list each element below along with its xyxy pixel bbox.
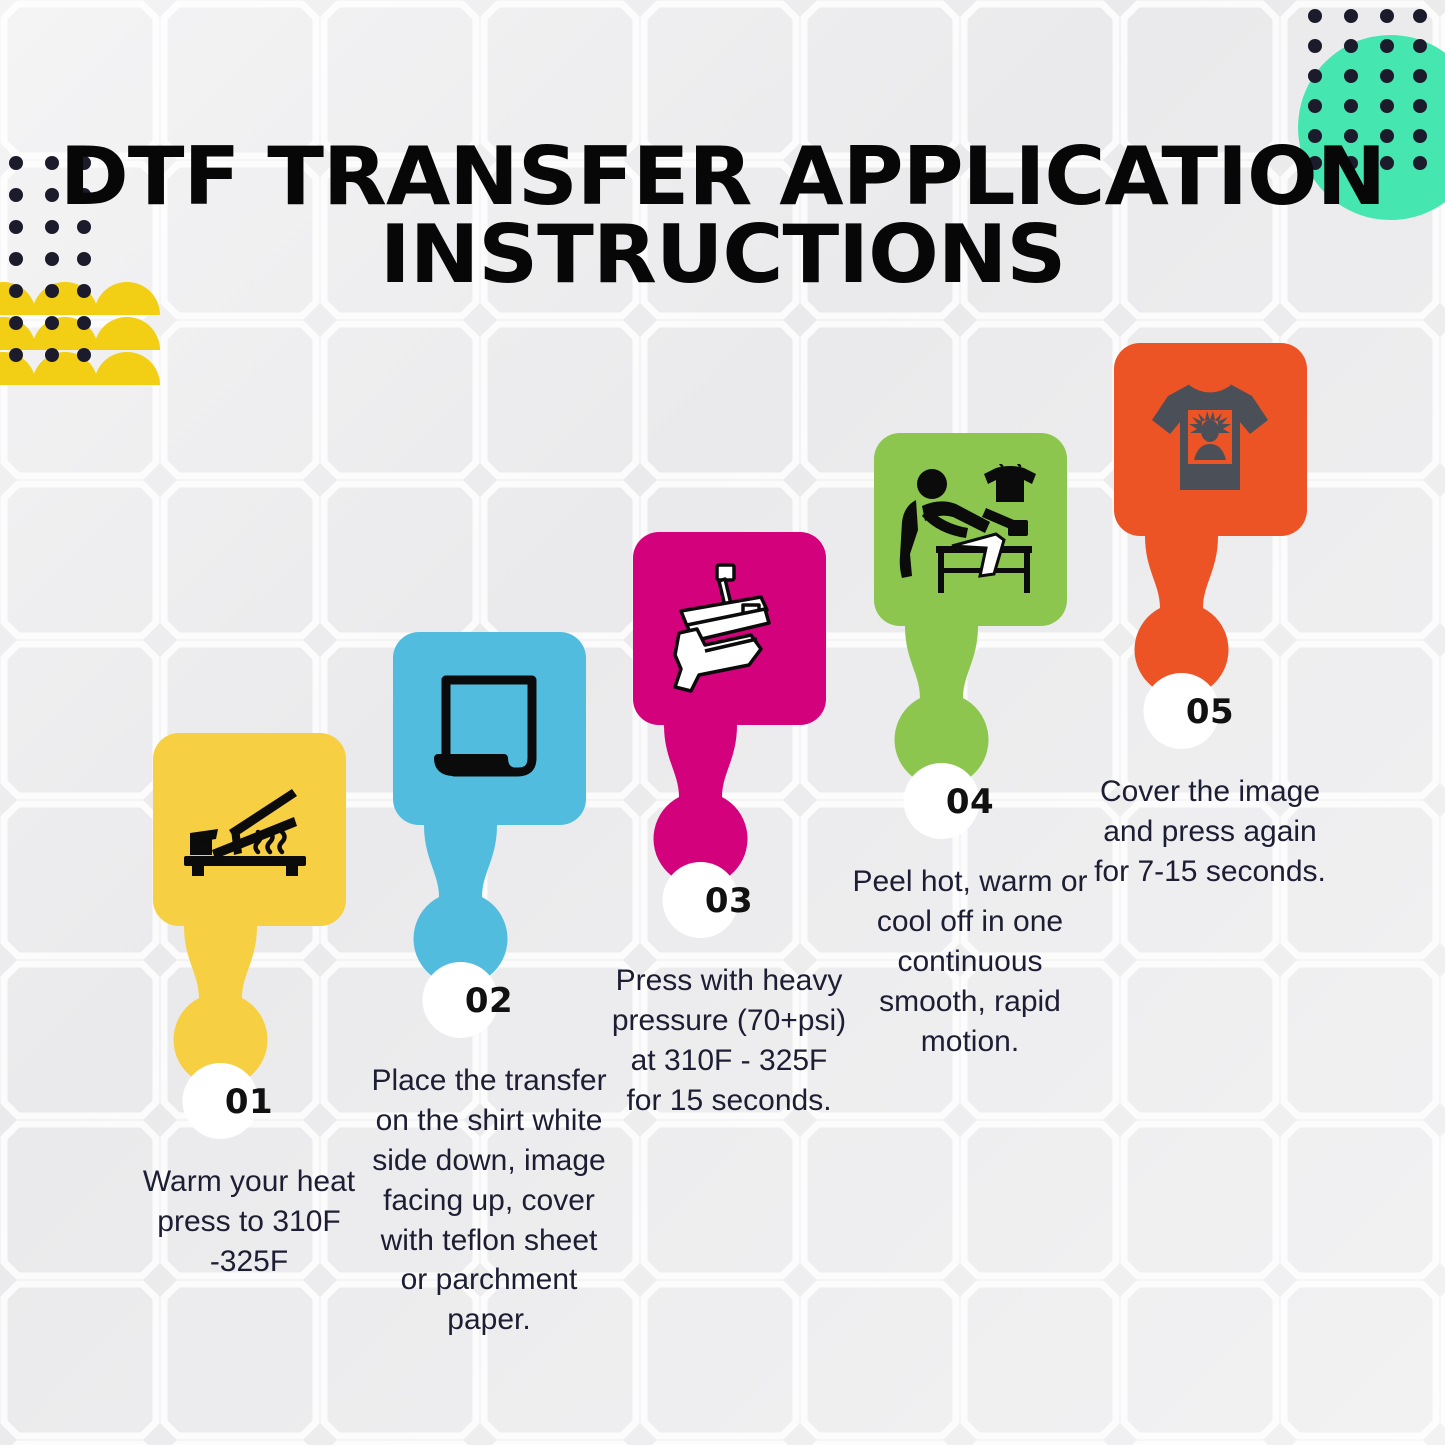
step-number-badge-03: 03 — [683, 855, 775, 947]
step-item-01[interactable]: 01 Warm your heat press to 310F -325F — [124, 733, 374, 1282]
step-number-badge-02: 02 — [443, 955, 535, 1047]
heat-press-open-icon — [174, 770, 324, 890]
step-badge-holder-05: 05 — [1085, 536, 1335, 758]
step-item-04[interactable]: 04 Peel hot, warm or cool off in one con… — [845, 433, 1095, 1061]
step-icon-card-05 — [1114, 343, 1307, 536]
heat-press-machine-icon — [657, 559, 802, 699]
page-title-line-2: INSTRUCTIONS — [0, 216, 1445, 294]
step-number-03: 03 — [705, 881, 753, 921]
step-description-04: Peel hot, warm or cool off in one contin… — [850, 862, 1090, 1061]
step-badge-holder-02: 02 — [364, 825, 614, 1047]
step-icon-card-03 — [633, 532, 826, 725]
step-badge-holder-04: 04 — [845, 626, 1095, 848]
page-title: DTF TRANSFER APPLICATION INSTRUCTIONS — [0, 138, 1445, 295]
step-icon-card-04 — [874, 433, 1067, 626]
step-description-03: Press with heavy pressure (70+psi) at 31… — [609, 961, 849, 1121]
step-description-05: Cover the image and press again for 7-15… — [1090, 772, 1330, 892]
step-number-04: 04 — [946, 782, 994, 822]
step-description-02: Place the transfer on the shirt white si… — [369, 1061, 609, 1340]
step-icon-card-01 — [153, 733, 346, 926]
step-badge-holder-03: 03 — [604, 725, 854, 947]
page-title-line-1: DTF TRANSFER APPLICATION — [0, 138, 1445, 216]
peel-transfer-person-icon — [894, 464, 1046, 596]
step-item-02[interactable]: 02 Place the transfer on the shirt white… — [364, 632, 614, 1340]
step-number-badge-05: 05 — [1164, 666, 1256, 758]
step-description-01: Warm your heat press to 310F -325F — [129, 1162, 369, 1282]
printed-tshirt-icon — [1146, 376, 1274, 504]
step-number-05: 05 — [1186, 692, 1234, 732]
step-number-badge-04: 04 — [924, 756, 1016, 848]
transfer-sheet-icon — [424, 666, 554, 791]
step-number-02: 02 — [465, 981, 513, 1021]
step-item-03[interactable]: 03 Press with heavy pressure (70+psi) at… — [604, 532, 854, 1121]
step-badge-holder-01: 01 — [124, 926, 374, 1148]
step-number-01: 01 — [225, 1082, 273, 1122]
step-item-05[interactable]: 05 Cover the image and press again for 7… — [1085, 343, 1335, 892]
step-number-badge-01: 01 — [203, 1056, 295, 1148]
step-icon-card-02 — [393, 632, 586, 825]
